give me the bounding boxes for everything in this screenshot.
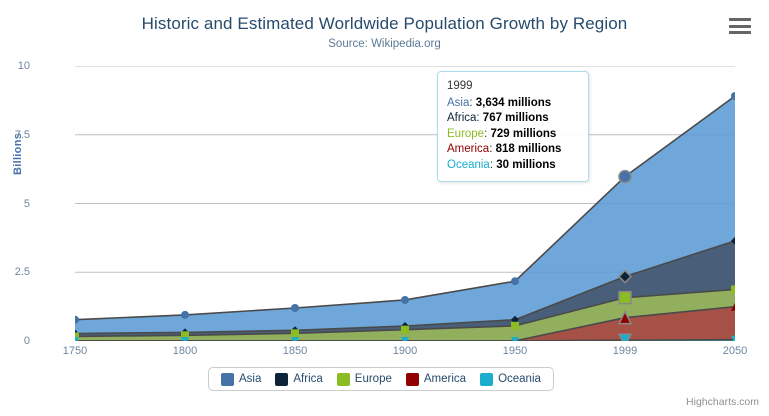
tooltip-series-value: 729 millions [490,128,556,140]
hamburger-bar [729,25,751,28]
legend-item-oceania[interactable]: Oceania [480,373,541,386]
tooltip-rows: Asia: 3,634 millionsAfrica: 767 millions… [447,96,579,174]
chart-title: Historic and Estimated Worldwide Populat… [0,14,769,34]
tooltip-row-oceania: Oceania: 30 millions [447,158,579,174]
data-point-europe-1850[interactable] [291,329,299,337]
data-point-asia-1900[interactable] [401,296,409,304]
data-point-asia-1950[interactable] [511,277,519,285]
y-axis-tick-label: 7.5 [0,129,30,141]
tooltip-row-america: America: 818 millions [447,142,579,158]
chart-plot-svg [75,66,735,341]
y-axis-tick-label: 10 [0,60,30,72]
tooltip-series-name: Asia [447,97,469,109]
tooltip-series-name: Oceania [447,159,490,171]
hamburger-menu-icon[interactable] [729,17,751,35]
tooltip-series-name: Africa [447,112,476,124]
legend-label: Africa [293,373,322,385]
data-point-europe-1950[interactable] [511,322,519,330]
x-axis-tick-label: 1800 [173,345,197,357]
credits-link[interactable]: Highcharts.com [686,396,759,408]
legend-label: Europe [355,373,392,385]
data-point-asia-1800[interactable] [181,311,189,319]
chart-tooltip: 1999 Asia: 3,634 millionsAfrica: 767 mil… [437,71,589,182]
data-point-europe-2050[interactable] [731,285,735,293]
y-axis-tick-label: 0 [0,335,30,347]
tooltip-header: 1999 [447,79,579,95]
x-axis-tick-label: 1999 [613,345,637,357]
plot-area [75,66,735,341]
tooltip-series-value: 30 millions [496,159,555,171]
x-axis-tick-label: 1750 [63,345,87,357]
x-axis-tick-label: 1950 [503,345,527,357]
legend-item-africa[interactable]: Africa [275,373,322,386]
legend-label: America [424,373,466,385]
tooltip-series-name: Europe [447,128,484,140]
legend-item-asia[interactable]: Asia [221,373,261,386]
legend-swatch-africa [275,373,288,386]
x-axis-tick-label: 2050 [723,345,747,357]
legend-swatch-america [406,373,419,386]
tooltip-series-value: 767 millions [483,112,549,124]
data-point-asia-1999[interactable] [619,171,631,183]
tooltip-row-europe: Europe: 729 millions [447,127,579,143]
highcharts-container: Historic and Estimated Worldwide Populat… [0,0,769,416]
x-axis-tick-label: 1850 [283,345,307,357]
tooltip-series-name: America [447,143,489,155]
tooltip-row-asia: Asia: 3,634 millions [447,96,579,112]
hamburger-bar [729,18,751,21]
tooltip-row-africa: Africa: 767 millions [447,111,579,127]
chart-subtitle: Source: Wikipedia.org [0,38,769,50]
legend-swatch-europe [337,373,350,386]
tooltip-series-value: 3,634 millions [476,97,551,109]
hamburger-bar [729,31,751,34]
legend-item-america[interactable]: America [406,373,466,386]
data-point-asia-1850[interactable] [291,304,299,312]
x-axis-tick-label: 1900 [393,345,417,357]
tooltip-series-value: 818 millions [496,143,562,155]
chart-legend: AsiaAfricaEuropeAmericaOceania [208,367,554,391]
legend-swatch-asia [221,373,234,386]
legend-swatch-oceania [480,373,493,386]
data-point-europe-1999[interactable] [619,292,631,304]
legend-label: Asia [239,373,261,385]
legend-label: Oceania [498,373,541,385]
data-point-europe-1900[interactable] [401,326,409,334]
y-axis-tick-label: 5 [0,198,30,210]
y-axis-tick-label: 2.5 [0,266,30,278]
legend-item-europe[interactable]: Europe [337,373,392,386]
